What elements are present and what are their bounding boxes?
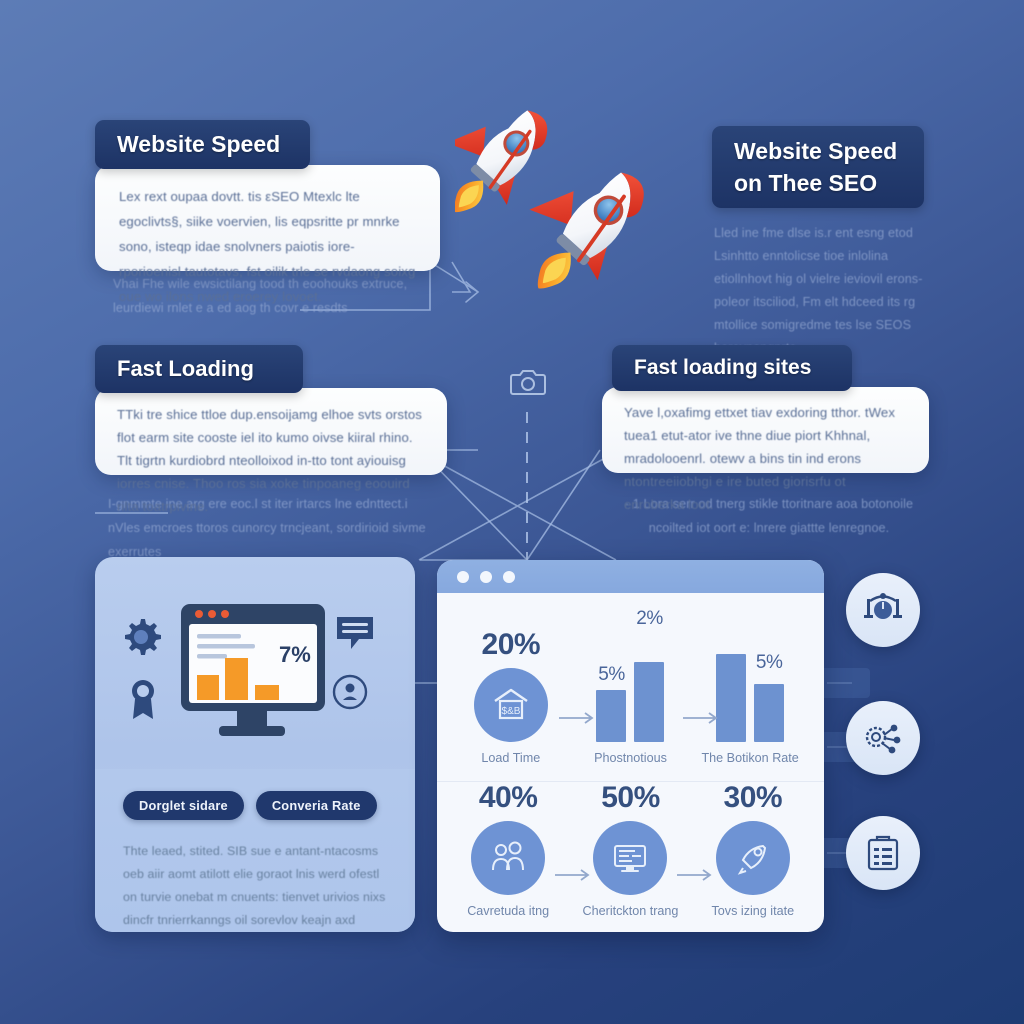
rocket-icon (716, 821, 790, 895)
stat-load-time-label: Load Time (455, 751, 567, 765)
window-dot-close[interactable] (457, 571, 469, 583)
badge-network-gear[interactable] (846, 701, 920, 775)
infographic-canvas: Website Speed Lex rext oupaa dovtt. tis … (0, 0, 1024, 1024)
card-fast-loading-sites-text: Yave l,oxafimg ettxet tiav exdoring ttho… (602, 387, 929, 516)
bar-1 (596, 690, 626, 742)
stat-conversion[interactable]: 40% Cavretuda itng (452, 781, 564, 918)
card-website-speed-text: Lex rext oupaa dovtt. tis εSEO Mtexlc lt… (95, 165, 440, 309)
window-dot-minimize[interactable] (480, 571, 492, 583)
dollar-circle-icon (331, 673, 369, 711)
dashboard-window[interactable]: 20% $&B Load Time 5% (437, 560, 824, 932)
stat-load-time-value: 20% (455, 628, 567, 662)
monitor-illustration: 7% (179, 602, 327, 742)
stat-conversion-label: Cavretuda itng (452, 904, 564, 918)
svg-text:$&B: $&B (501, 706, 520, 717)
badge-clipboard[interactable] (846, 816, 920, 890)
clipboard-checklist-icon (862, 832, 904, 874)
speedometer-gauge-icon (862, 589, 904, 631)
bar-2 (634, 662, 664, 742)
dashboard-row-top: 20% $&B Load Time 5% (437, 593, 824, 781)
bar-3 (716, 654, 746, 742)
arrow-right-1 (559, 711, 599, 725)
stat-load-time[interactable]: 20% $&B Load Time (455, 628, 567, 765)
card-fast-loading-text: TTki tre shice ttloe dup.ensoijamg elhoe… (95, 388, 447, 518)
stat-conversion-value: 40% (452, 781, 564, 815)
stat-clickthrough-label: Cheritckton trang (574, 904, 686, 918)
stat-ranking[interactable]: 30% Tovs izing itate (697, 781, 809, 918)
stat-clickthrough-value: 50% (574, 781, 686, 815)
rockets-illustration (455, 70, 695, 345)
stat-phostnotious[interactable]: 5% 2% Phostnotious (574, 646, 686, 765)
stat-ranking-value: 30% (697, 781, 809, 815)
badge-ribbon-icon (127, 677, 159, 721)
bars-phostnotious: 5% 2% (574, 646, 686, 742)
gear-icon (119, 615, 163, 659)
left-panel-body-text: Thte leaed, stited. SIB sue e antant-nta… (95, 820, 415, 932)
card-website-speed: Lex rext oupaa dovtt. tis εSEO Mtexlc lt… (95, 165, 440, 271)
stat-ranking-label: Tovs izing itate (697, 904, 809, 918)
network-gear-icon (862, 717, 904, 759)
arrow-right-3 (555, 868, 595, 882)
arrow-right-2 (683, 711, 723, 725)
badge-fast-loading[interactable]: Fast Loading (95, 345, 303, 393)
badge-website-speed-label: Website Speed (117, 131, 280, 158)
arrow-right-4 (677, 868, 717, 882)
chat-bubble-icon (335, 615, 375, 653)
subtext-website-speed-seo: Lled ine fme dlse is.r ent esng etod Lsi… (714, 222, 926, 360)
people-icon (471, 821, 545, 895)
pill-conversion-rate[interactable]: Converia Rate (256, 791, 377, 820)
bar-1-value: 5% (596, 664, 626, 686)
badge-website-speed-seo[interactable]: Website Speed on Thee SEO (712, 126, 924, 208)
bar-4-value: 5% (754, 652, 784, 674)
dashboard-row-bottom: 40% Cavretuda itng 50% (437, 781, 824, 932)
left-illustration-panel: 7% Dorglet sidare Converia Rate Thte lea… (95, 557, 415, 932)
stat-phostnotious-label: Phostnotious (574, 751, 686, 765)
badge-speedometer[interactable] (846, 573, 920, 647)
bars-bounce-rate: 5% (694, 646, 806, 742)
stat-bounce-rate[interactable]: 5% The Botikon Rate (694, 646, 806, 765)
camera-icon (510, 366, 546, 396)
badge-fast-loading-sites-label: Fast loading sites (634, 356, 811, 380)
monitor-icon (593, 821, 667, 895)
badge-fast-loading-label: Fast Loading (117, 356, 254, 382)
bank-house-icon: $&B (474, 668, 548, 742)
bar-2-value: 2% (634, 608, 664, 630)
badge-seo-line2: on Thee SEO (734, 167, 877, 199)
badge-seo-line1: Website Speed (734, 135, 897, 167)
stat-clickthrough[interactable]: 50% Cheritckton trang (574, 781, 686, 918)
dashboard-titlebar (437, 560, 824, 593)
card-fast-loading-sites: Yave l,oxafimg ettxet tiav exdoring ttho… (602, 387, 929, 473)
left-panel-lower: Dorglet sidare Converia Rate Thte leaed,… (95, 769, 415, 932)
monitor-percent-label: 7% (279, 642, 311, 667)
stat-bounce-rate-label: The Botikon Rate (694, 751, 806, 765)
card-fast-loading: TTki tre shice ttloe dup.ensoijamg elhoe… (95, 388, 447, 475)
pill-organic-share[interactable]: Dorglet sidare (123, 791, 244, 820)
window-dot-maximize[interactable] (503, 571, 515, 583)
bar-4 (754, 684, 784, 742)
badge-fast-loading-sites[interactable]: Fast loading sites (612, 345, 852, 391)
badge-website-speed[interactable]: Website Speed (95, 120, 310, 169)
